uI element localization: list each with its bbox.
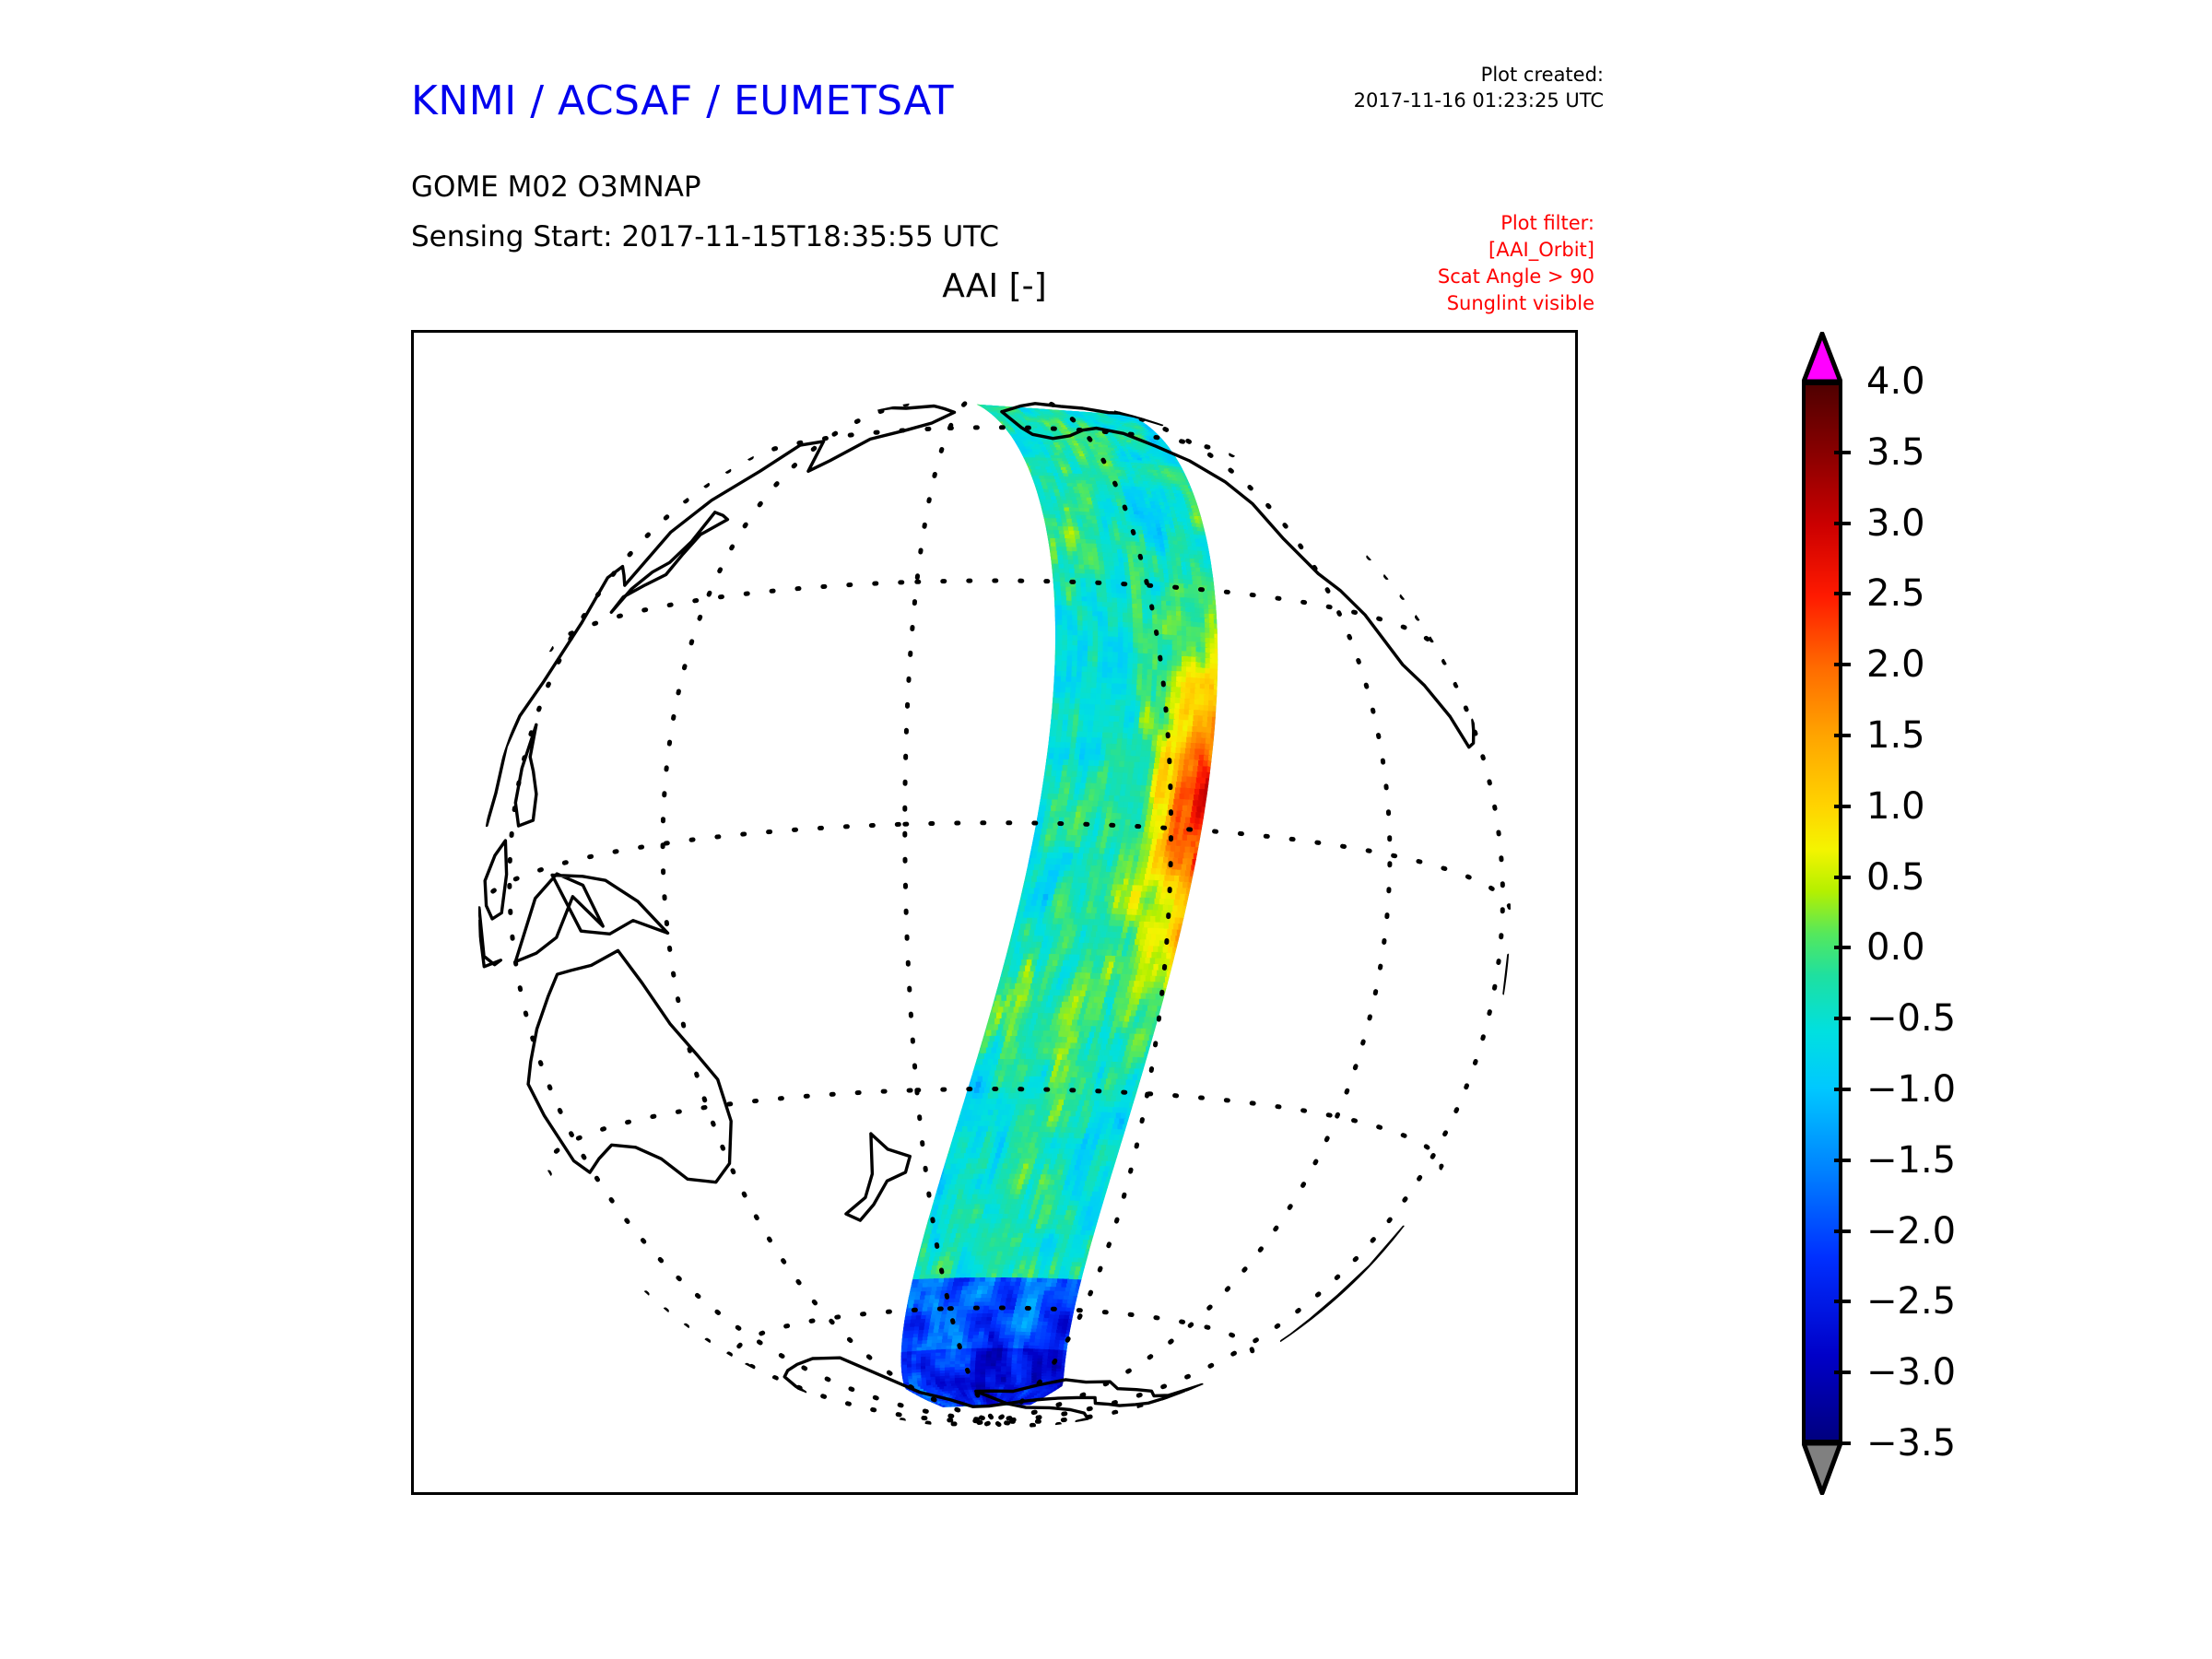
plot-filter-line-0: [AAI_Orbit] [1318, 237, 1594, 264]
colorbar-tick-label: 4.0 [1866, 363, 1925, 400]
colorbar-gradient [1802, 382, 1842, 1443]
colorbar-tick-label: −1.0 [1866, 1071, 1956, 1108]
plot-filter-block: Plot filter: [AAI_Orbit] Scat Angle > 90… [1318, 210, 1594, 317]
plot-filter-line-1: Scat Angle > 90 [1318, 264, 1594, 290]
colorbar-tick-label: 2.0 [1866, 646, 1925, 683]
colorbar-tick-label: −2.0 [1866, 1213, 1956, 1250]
colorbar-tick [1834, 663, 1851, 666]
colorbar-tick-label: −3.5 [1866, 1425, 1956, 1462]
colorbar-tick-label: 1.0 [1866, 788, 1925, 825]
product-name: GOME M02 O3MNAP [411, 171, 701, 204]
colorbar-tick [1834, 1371, 1851, 1374]
organisation-title: KNMI / ACSAF / EUMETSAT [411, 77, 954, 124]
colorbar-under-arrow [1802, 1440, 1842, 1495]
colorbar-tick [1834, 522, 1851, 525]
colorbar-tick-label: 0.5 [1866, 859, 1925, 896]
colorbar-tick-label: 3.0 [1866, 505, 1925, 542]
colorbar-tick [1834, 805, 1851, 808]
colorbar-tick [1834, 876, 1851, 879]
colorbar-tick [1834, 592, 1851, 595]
colorbar[interactable]: 4.03.53.02.52.01.51.00.50.0−0.5−1.0−1.5−… [1779, 324, 2083, 1495]
colorbar-tick [1834, 1159, 1851, 1162]
sensing-start: Sensing Start: 2017-11-15T18:35:55 UTC [411, 220, 999, 253]
plot-created-timestamp: 2017-11-16 01:23:25 UTC [1290, 88, 1604, 114]
colorbar-tick [1834, 1230, 1851, 1233]
colorbar-over-arrow [1802, 332, 1842, 383]
colorbar-tick-label: −3.0 [1866, 1354, 1956, 1391]
plot-created-block: Plot created: 2017-11-16 01:23:25 UTC [1290, 63, 1604, 113]
plot-created-label: Plot created: [1290, 63, 1604, 88]
plot-filter-title: Plot filter: [1318, 210, 1594, 237]
colorbar-tick-label: −2.5 [1866, 1283, 1956, 1320]
colorbar-tick [1834, 451, 1851, 454]
colorbar-tick [1834, 1088, 1851, 1091]
colorbar-tick-label: 3.5 [1866, 434, 1925, 471]
colorbar-tick-label: 1.5 [1866, 717, 1925, 754]
colorbar-tick-label: −1.5 [1866, 1142, 1956, 1179]
colorbar-tick [1834, 946, 1851, 949]
colorbar-tick-label: −0.5 [1866, 1000, 1956, 1037]
colorbar-tick-label: 0.0 [1866, 929, 1925, 966]
colorbar-tick-label: 2.5 [1866, 575, 1925, 612]
colorbar-tick [1834, 734, 1851, 737]
colorbar-tick [1834, 1441, 1851, 1445]
colorbar-tick [1834, 1017, 1851, 1020]
colorbar-tick [1834, 1300, 1851, 1303]
map-panel[interactable] [411, 330, 1578, 1495]
plot-filter-line-2: Sunglint visible [1318, 290, 1594, 317]
map-canvas [414, 333, 1575, 1492]
